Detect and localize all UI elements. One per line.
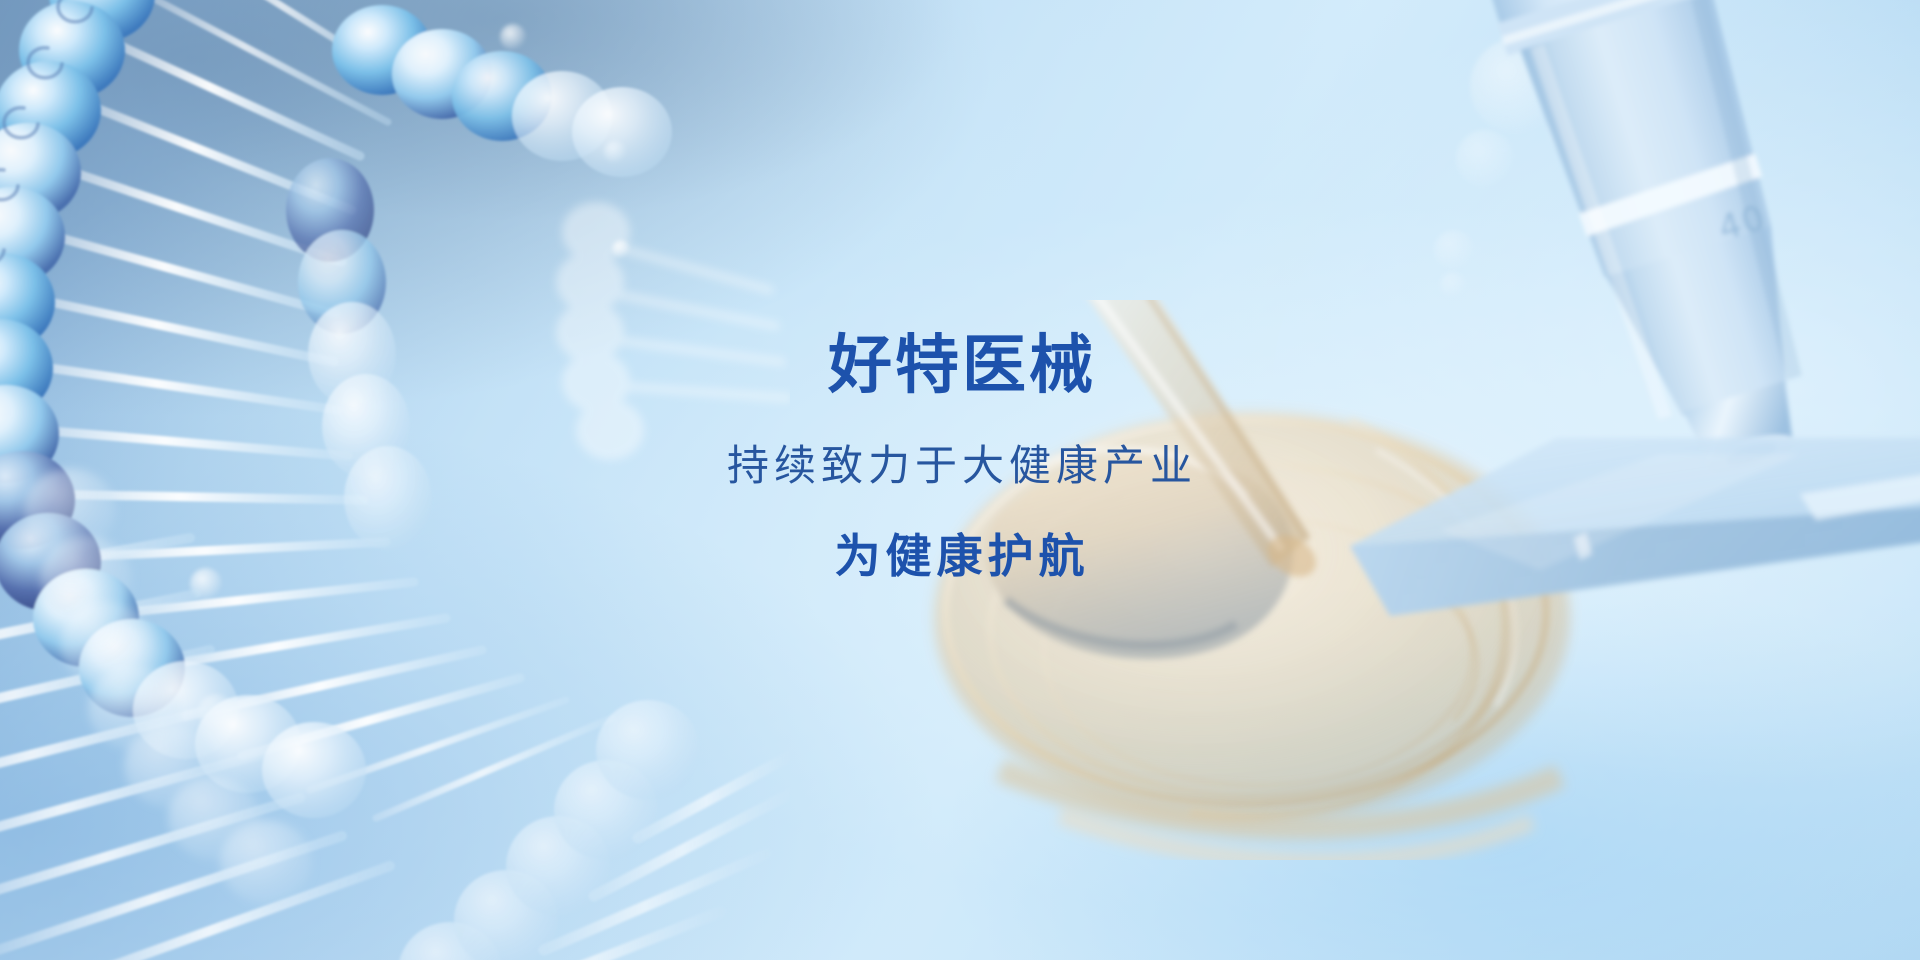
page-tagline: 为健康护航: [727, 531, 1197, 582]
page-title: 好特医械: [727, 332, 1197, 401]
hero-text-block: 好特医械 持续致力于大健康产业 为健康护航: [0, 332, 1920, 582]
hero-banner: 40: [0, 0, 1920, 960]
page-subtitle: 持续致力于大健康产业: [727, 443, 1197, 489]
